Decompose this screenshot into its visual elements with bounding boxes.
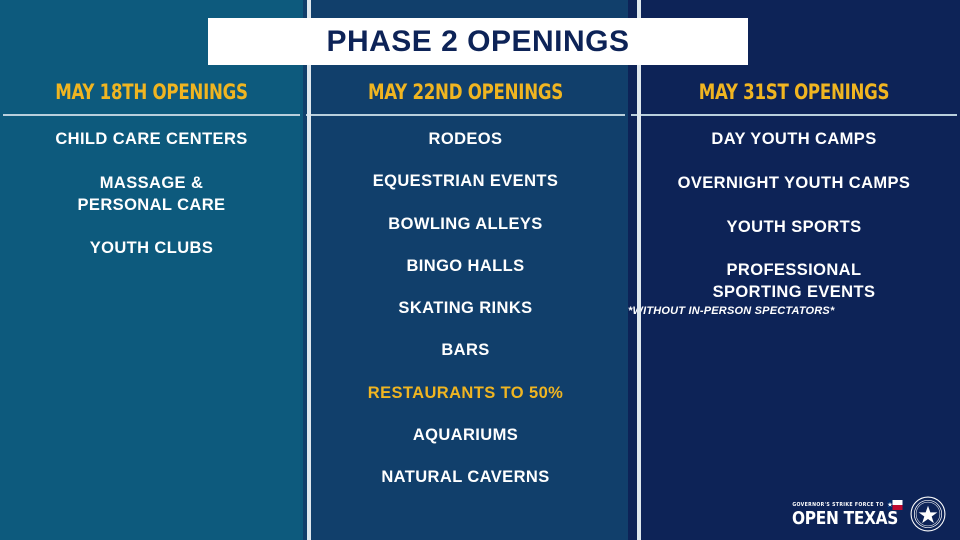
column-may-31: MAY 31ST OPENINGS DAY YOUTH CAMPS OVERNI… — [628, 0, 960, 540]
item-list-may-18: CHILD CARE CENTERS MASSAGE & PERSONAL CA… — [0, 116, 303, 260]
open-texas-logo: GOVERNOR'S STRIKE FORCE TO OPEN TEXAS — [792, 496, 946, 532]
list-item: BARS — [303, 340, 628, 362]
list-item: OVERNIGHT YOUTH CAMPS — [628, 173, 960, 195]
item-list-may-22: RODEOS EQUESTRIAN EVENTS BOWLING ALLEYS … — [303, 116, 628, 489]
list-item: NATURAL CAVERNS — [303, 467, 628, 489]
list-item: PROFESSIONAL SPORTING EVENTS — [628, 260, 960, 304]
page-title: PHASE 2 OPENINGS — [326, 25, 629, 59]
list-item: BINGO HALLS — [303, 256, 628, 278]
list-item-highlighted: RESTAURANTS TO 50% — [303, 383, 628, 405]
column-header-may-31: MAY 31ST OPENINGS — [648, 82, 940, 103]
logo-name: OPEN TEXAS — [792, 510, 898, 527]
column-may-22: MAY 22ND OPENINGS RODEOS EQUESTRIAN EVEN… — [303, 0, 628, 540]
logo-tagline: GOVERNOR'S STRIKE FORCE TO — [792, 502, 883, 508]
list-item: YOUTH SPORTS — [628, 217, 960, 239]
phase-2-openings-infographic: MAY 18TH OPENINGS CHILD CARE CENTERS MAS… — [0, 0, 960, 540]
page-title-banner: PHASE 2 OPENINGS — [208, 18, 748, 65]
list-item: SKATING RINKS — [303, 298, 628, 320]
list-item: BOWLING ALLEYS — [303, 214, 628, 236]
list-item: CHILD CARE CENTERS — [0, 129, 303, 151]
logo-wordmark: GOVERNOR'S STRIKE FORCE TO OPEN TEXAS — [792, 500, 904, 527]
list-item-with-note: PROFESSIONAL SPORTING EVENTS *WITHOUT IN… — [628, 260, 960, 317]
list-item: YOUTH CLUBS — [0, 238, 303, 260]
column-may-18: MAY 18TH OPENINGS CHILD CARE CENTERS MAS… — [0, 0, 303, 540]
texas-state-seal-icon — [910, 496, 946, 532]
logo-name-row: OPEN TEXAS — [792, 510, 904, 527]
list-item: DAY YOUTH CAMPS — [628, 129, 960, 151]
list-item: RODEOS — [303, 129, 628, 151]
list-item: AQUARIUMS — [303, 425, 628, 447]
list-item: MASSAGE & PERSONAL CARE — [0, 173, 303, 217]
list-item: EQUESTRIAN EVENTS — [303, 171, 628, 193]
column-divider-left — [307, 0, 311, 540]
spectators-note: *WITHOUT IN-PERSON SPECTATORS* — [628, 305, 960, 317]
column-divider-right — [637, 0, 641, 540]
column-header-may-18: MAY 18TH OPENINGS — [18, 82, 285, 103]
item-list-may-31: DAY YOUTH CAMPS OVERNIGHT YOUTH CAMPS YO… — [628, 116, 960, 317]
column-header-may-22: MAY 22ND OPENINGS — [323, 82, 609, 103]
